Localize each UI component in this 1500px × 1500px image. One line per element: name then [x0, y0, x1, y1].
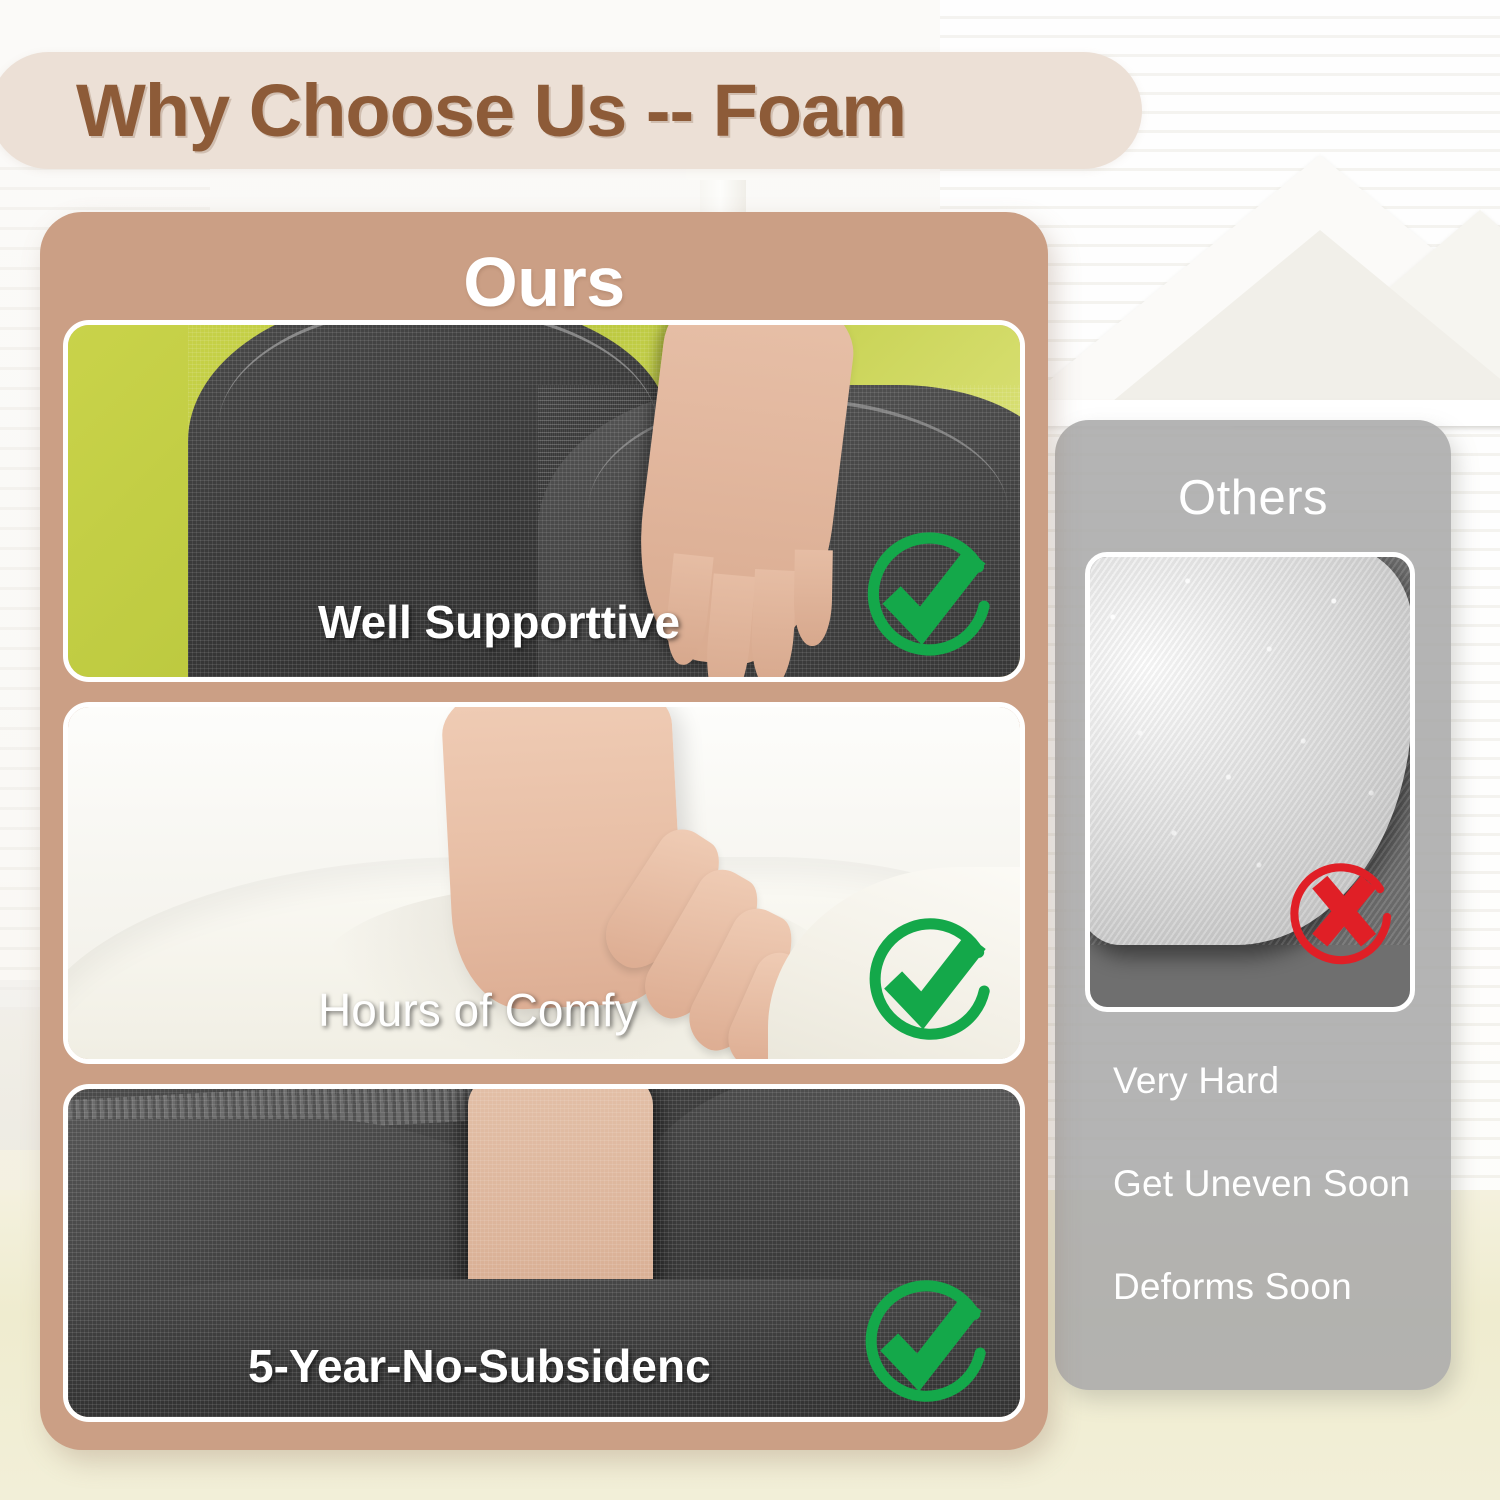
ours-heading: Ours — [40, 242, 1048, 322]
others-panel: Others Very Hard Get Uneven Soon Deforms… — [1055, 420, 1451, 1390]
ours-feature-card-2: Hours of Comfy — [63, 702, 1025, 1064]
ours-panel: Ours Well Supporttive — [40, 212, 1048, 1450]
ours-feature-card-1: Well Supporttive — [63, 320, 1025, 682]
green-check-circle-icon — [856, 1273, 994, 1411]
background-gable-inner — [1090, 230, 1500, 420]
others-list-item: Get Uneven Soon — [1113, 1163, 1433, 1205]
ours-feature-card-3: 5-Year-No-Subsidenc — [63, 1084, 1025, 1422]
green-check-circle-icon — [860, 911, 998, 1049]
page-title: Why Choose Us -- Foam — [76, 74, 906, 148]
title-banner: Why Choose Us -- Foam — [0, 52, 1142, 169]
red-x-circle-icon — [1285, 852, 1401, 968]
others-heading: Others — [1055, 470, 1451, 526]
feature-caption-2: Hours of Comfy — [318, 983, 638, 1037]
others-list-item: Very Hard — [1113, 1060, 1433, 1102]
feature-caption-1: Well Supporttive — [318, 595, 680, 649]
infographic-canvas: Why Choose Us -- Foam Others Very Hard G… — [0, 0, 1500, 1500]
feature-caption-3: 5-Year-No-Subsidenc — [248, 1339, 711, 1393]
green-check-circle-icon — [858, 525, 998, 665]
others-drawback-list: Very Hard Get Uneven Soon Deforms Soon — [1113, 1060, 1433, 1369]
others-list-item: Deforms Soon — [1113, 1266, 1433, 1308]
